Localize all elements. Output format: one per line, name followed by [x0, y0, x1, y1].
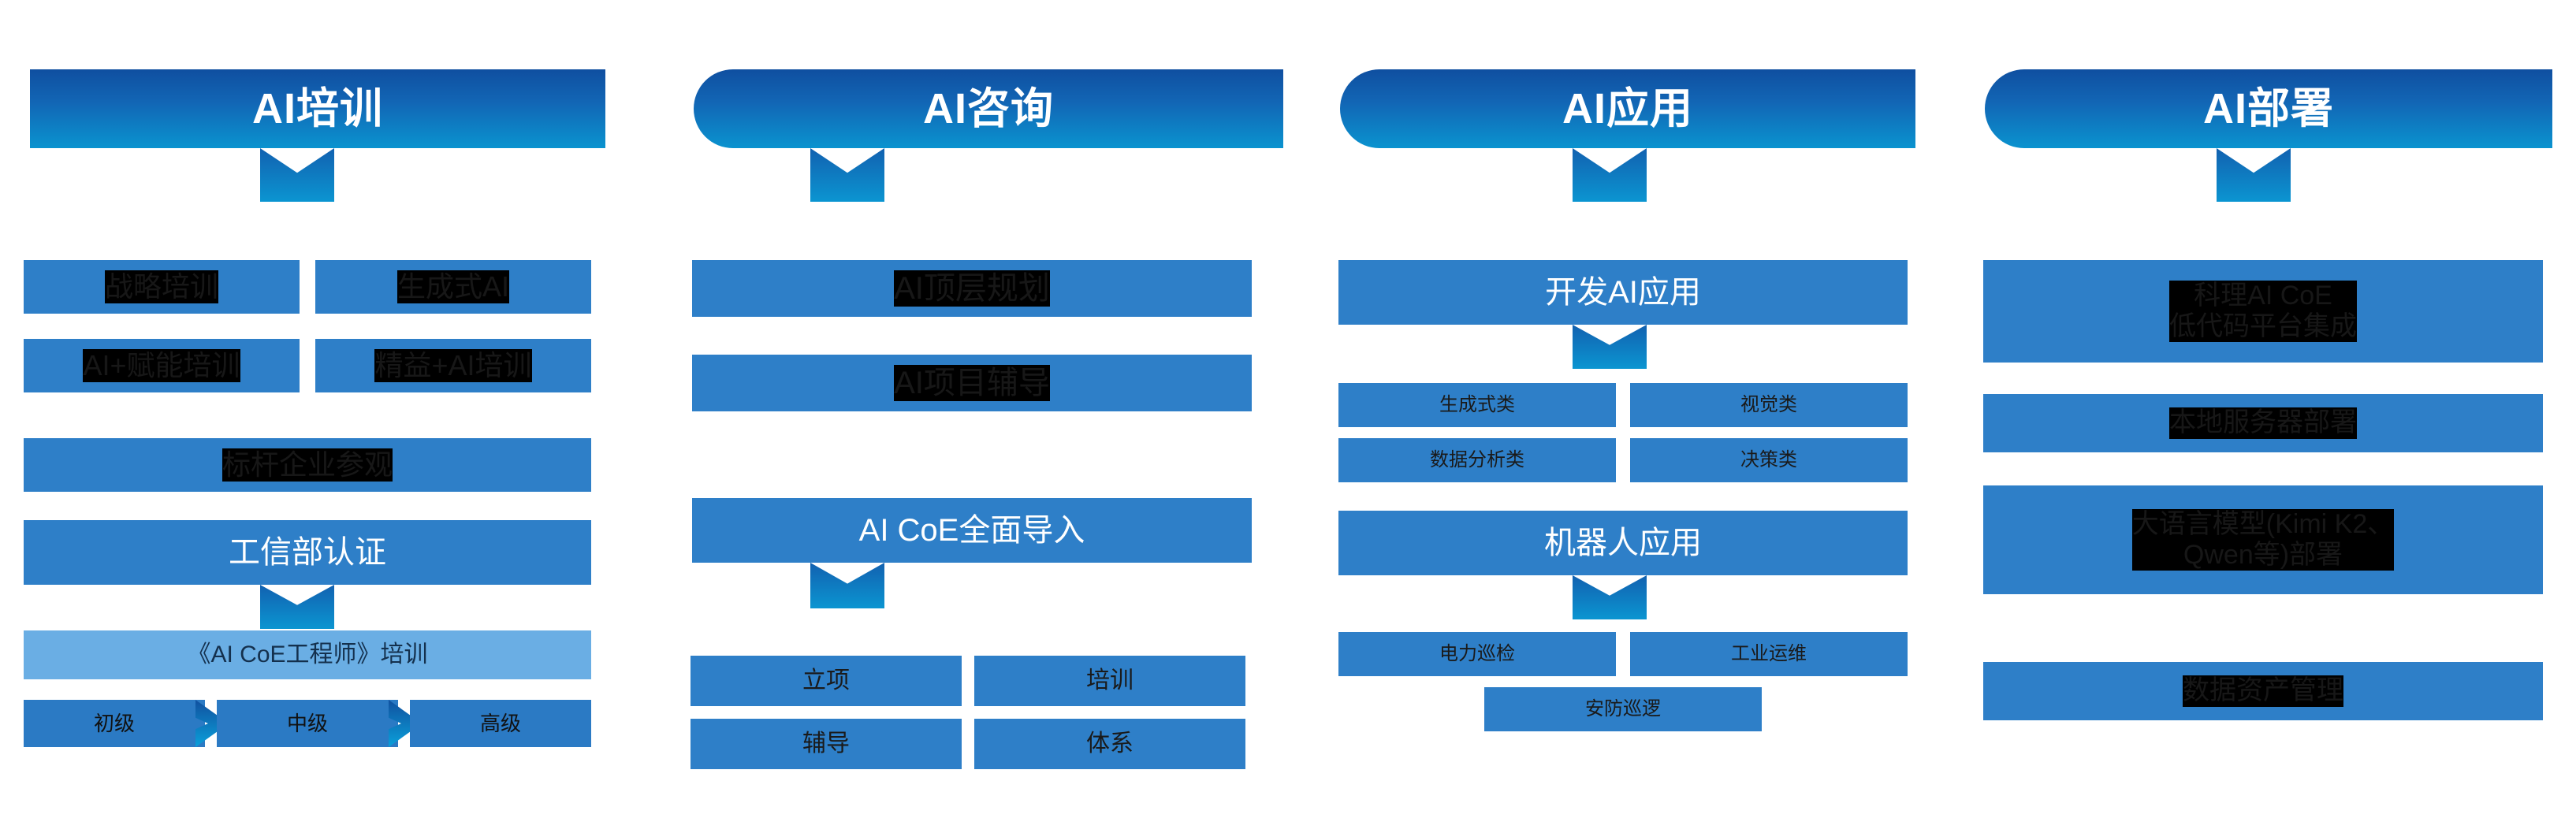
column-ai-consulting: AI咨询 AI顶层规划 AI项目辅导 AI CoE全面导入 立项 培训 辅导	[678, 0, 1308, 833]
robot-type-label: 电力巡检	[1439, 643, 1515, 665]
item-box[interactable]: 科理AI CoE 低代码平台集成	[1983, 260, 2543, 363]
down-arrow-icon	[810, 563, 884, 608]
app-type-box[interactable]: 视觉类	[1630, 383, 1908, 427]
level-label: 高级	[480, 712, 521, 735]
column-header-deployment: AI部署	[1985, 69, 2552, 148]
item-box[interactable]: 数据资产管理	[1983, 662, 2543, 720]
item-label: 工信部认证	[229, 534, 386, 571]
down-arrow-icon	[2217, 148, 2291, 202]
item-label: 开发AI应用	[1545, 274, 1701, 311]
robot-type-box[interactable]: 安防巡逻	[1484, 687, 1762, 731]
item-label: 生成式AI	[397, 270, 509, 303]
footer-highlight-box[interactable]: 《AI CoE工程师》培训	[24, 630, 591, 679]
footer-highlight-label: 《AI CoE工程师》培训	[187, 641, 427, 669]
item-box[interactable]: AI+赋能培训	[24, 339, 300, 392]
app-type-box[interactable]: 生成式类	[1338, 383, 1616, 427]
column-ai-training: AI培训 战略培训 生成式AI AI+赋能培训 精益+AI培训 标杆企业参观 工…	[0, 0, 631, 833]
item-box[interactable]: 精益+AI培训	[315, 339, 591, 392]
app-type-label: 数据分析类	[1430, 449, 1524, 471]
column-header-title: AI咨询	[923, 87, 1054, 130]
item-label: 精益+AI培训	[374, 349, 531, 382]
item-label: 数据资产管理	[2183, 675, 2343, 706]
item-box[interactable]: AI项目辅导	[692, 355, 1252, 411]
item-label: 科理AI CoE 低代码平台集成	[2169, 281, 2357, 343]
down-arrow-icon	[260, 585, 334, 629]
sub-item-label: 培训	[1086, 668, 1134, 695]
app-type-label: 视觉类	[1740, 394, 1797, 416]
item-label: AI顶层规划	[894, 270, 1050, 307]
item-label: AI CoE全面导入	[859, 512, 1085, 549]
column-header-consulting: AI咨询	[694, 69, 1283, 148]
robot-type-box[interactable]: 工业运维	[1630, 632, 1908, 676]
down-arrow-icon	[1573, 575, 1647, 619]
app-type-box[interactable]: 决策类	[1630, 438, 1908, 482]
column-header-training: AI培训	[30, 69, 605, 148]
robot-type-box[interactable]: 电力巡检	[1338, 632, 1616, 676]
level-label: 初级	[94, 712, 135, 735]
app-type-label: 决策类	[1740, 449, 1797, 471]
item-label: AI项目辅导	[894, 365, 1050, 401]
level-segment-advanced[interactable]: 高级	[410, 700, 591, 747]
item-label: AI+赋能培训	[83, 349, 240, 382]
item-label: 标杆企业参观	[222, 448, 393, 482]
sub-item-box[interactable]: 培训	[974, 656, 1245, 706]
down-arrow-icon	[810, 148, 884, 202]
column-header-title: AI部署	[2203, 87, 2334, 130]
item-label: 战略培训	[105, 270, 218, 303]
column-header-title: AI应用	[1562, 87, 1693, 130]
column-ai-application: AI应用 开发AI应用 生成式类 视觉类 数据分析类 决策类 机器人应用	[1332, 0, 1963, 833]
sub-item-label: 体系	[1086, 731, 1134, 758]
column-header-application: AI应用	[1340, 69, 1915, 148]
item-box-certification[interactable]: 工信部认证	[24, 520, 591, 585]
column-ai-deployment: AI部署 科理AI CoE 低代码平台集成 本地服务器部署 大语言模型(Kimi…	[1971, 0, 2576, 833]
item-label: 机器人应用	[1544, 525, 1702, 561]
down-arrow-icon	[1573, 148, 1647, 202]
item-box[interactable]: AI顶层规划	[692, 260, 1252, 317]
ai-roadmap-diagram: AI培训 战略培训 生成式AI AI+赋能培训 精益+AI培训 标杆企业参观 工…	[0, 0, 2576, 833]
item-box[interactable]: 战略培训	[24, 260, 300, 314]
robot-type-label: 安防巡逻	[1585, 698, 1661, 720]
item-box-develop-app[interactable]: 开发AI应用	[1338, 260, 1908, 325]
level-label: 中级	[287, 712, 328, 735]
sub-item-label: 辅导	[802, 731, 850, 758]
item-box[interactable]: 生成式AI	[315, 260, 591, 314]
item-label: 本地服务器部署	[2169, 407, 2357, 438]
sub-item-box[interactable]: 立项	[691, 656, 962, 706]
down-arrow-icon	[1573, 325, 1647, 369]
robot-type-label: 工业运维	[1731, 643, 1807, 665]
column-header-title: AI培训	[252, 87, 383, 130]
sub-item-box[interactable]: 体系	[974, 719, 1245, 769]
item-box[interactable]: 标杆企业参观	[24, 438, 591, 492]
app-type-label: 生成式类	[1439, 394, 1515, 416]
item-box-coe[interactable]: AI CoE全面导入	[692, 498, 1252, 563]
item-box-robot[interactable]: 机器人应用	[1338, 511, 1908, 575]
item-label: 大语言模型(Kimi K2、 Qwen等)部署	[2132, 509, 2394, 571]
level-segment-intermediate[interactable]: 中级	[217, 700, 398, 747]
down-arrow-icon	[260, 148, 334, 202]
app-type-box[interactable]: 数据分析类	[1338, 438, 1616, 482]
sub-item-box[interactable]: 辅导	[691, 719, 962, 769]
item-box[interactable]: 大语言模型(Kimi K2、 Qwen等)部署	[1983, 485, 2543, 594]
sub-item-label: 立项	[802, 668, 850, 695]
level-segment-basic[interactable]: 初级	[24, 700, 205, 747]
item-box[interactable]: 本地服务器部署	[1983, 394, 2543, 452]
